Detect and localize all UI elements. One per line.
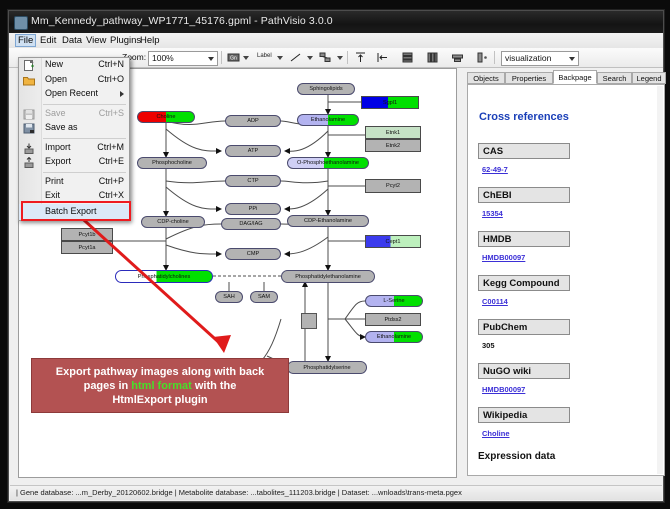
tab-properties[interactable]: Properties [505, 72, 553, 84]
datanode-dropdown-icon[interactable] [243, 56, 249, 60]
link-wikipedia[interactable]: Choline [482, 429, 510, 438]
annotation-highlight: html format [131, 380, 192, 392]
application-window: Mm_Kennedy_pathway_WP1771_45176.gpml - P… [8, 10, 664, 502]
menu-file[interactable]: File [15, 34, 36, 47]
menu-item-label: Exit [45, 190, 60, 200]
link-chebi[interactable]: 15354 [482, 209, 503, 218]
menu-item-label: Save as [45, 122, 78, 132]
metabolite-node[interactable]: Phosphatidylserine [287, 361, 367, 374]
link-kegg-compound[interactable]: C00114 [482, 297, 508, 306]
svg-text:Gn: Gn [230, 56, 237, 62]
expression-data-heading: Expression data [478, 451, 555, 462]
menu-item-accel: Ctrl+N [98, 59, 124, 69]
same-height-button[interactable] [476, 51, 489, 64]
side-panel: Objects Properties Backpage Search Legen… [459, 68, 663, 476]
menu-separator [43, 138, 126, 139]
import-icon [23, 143, 35, 154]
section-hmdb: HMDB [478, 231, 570, 247]
menu-item-label: Save [45, 108, 66, 118]
metabolite-node[interactable]: Sphingolipids [297, 83, 355, 95]
annotation-line-1: Export pathway images along with back [56, 366, 264, 378]
menu-item-accel: Ctrl+P [99, 176, 124, 186]
menu-item-print[interactable]: Print Ctrl+P [19, 175, 129, 190]
menu-item-label: Open [45, 74, 67, 84]
metabolite-node[interactable]: Ethanolamine [297, 114, 359, 126]
section-kegg-compound: Kegg Compound [478, 275, 570, 291]
link-hmdb[interactable]: HMDB00097 [482, 253, 525, 262]
menu-bar: File Edit Data View Plugins Help [9, 33, 663, 49]
interaction-dropdown-icon[interactable] [337, 56, 343, 60]
title-bar: Mm_Kennedy_pathway_WP1771_45176.gpml - P… [9, 11, 663, 34]
visualization-value: visualization [505, 53, 551, 63]
side-panel-scrollbar[interactable] [657, 86, 663, 474]
anchor-box[interactable] [301, 313, 317, 329]
status-bar: | Gene database: ...m_Derby_20120602.bri… [10, 485, 662, 500]
tab-search[interactable]: Search [597, 72, 632, 84]
link-nugo-wiki[interactable]: HMDB00097 [482, 385, 525, 394]
menu-item-label: Print [45, 176, 64, 186]
label-button[interactable]: Label [257, 53, 272, 59]
line-button[interactable] [289, 51, 302, 64]
visualization-combobox[interactable]: visualization [501, 51, 579, 66]
menu-item-label: Export [45, 156, 71, 166]
menu-item-import[interactable]: Import Ctrl+M [19, 141, 129, 156]
menu-item-label: Import [45, 142, 71, 152]
side-panel-tabs: Objects Properties Backpage Search Legen… [467, 70, 663, 84]
menu-item-save: Save Ctrl+S [19, 107, 129, 122]
menu-edit[interactable]: Edit [37, 34, 59, 47]
menu-item-new[interactable]: New Ctrl+N [19, 58, 129, 73]
save-as-icon [23, 123, 35, 134]
align-left-button[interactable] [376, 51, 389, 64]
stack-vertical-button[interactable] [401, 51, 414, 64]
section-wikipedia: Wikipedia [478, 407, 570, 423]
menu-view[interactable]: View [83, 34, 109, 47]
tab-backpage[interactable]: Backpage [553, 70, 597, 84]
label-dropdown-icon[interactable] [277, 56, 283, 60]
metabolite-node[interactable]: Phosphatidylethanolamine [281, 270, 375, 283]
new-document-icon [23, 60, 35, 71]
menu-item-accel: Ctrl+S [99, 108, 124, 118]
menu-item-accel: Ctrl+M [97, 142, 124, 152]
menu-item-label: Open Recent [45, 88, 98, 98]
annotation-line-3: HtmlExport plugin [112, 394, 207, 406]
menu-item-open[interactable]: Open Ctrl+O [19, 73, 129, 88]
stack-horizontal-button[interactable] [426, 51, 439, 64]
menu-separator [43, 104, 126, 105]
value-pubchem: 305 [482, 341, 495, 350]
backpage-content: Cross references CAS 62-49-7 ChEBI 15354… [467, 84, 665, 476]
gene-node[interactable]: Ptdss2 [365, 313, 421, 326]
annotation-callout: Export pathway images along with back pa… [31, 358, 289, 413]
link-cas[interactable]: 62-49-7 [482, 165, 508, 174]
file-menu-popup[interactable]: New Ctrl+N Open Ctrl+O Open Recent Save [18, 57, 130, 221]
batch-export-highlight-box [21, 201, 131, 221]
gene-node[interactable]: Etnk2 [365, 139, 421, 152]
metabolite-node[interactable]: L-Serine [365, 295, 423, 307]
gene-node[interactable]: Cept1 [365, 235, 421, 248]
tab-legend[interactable]: Legend [632, 72, 666, 84]
menu-separator [43, 172, 126, 173]
gene-node[interactable]: Pcyt2 [365, 179, 421, 193]
menu-item-label: New [45, 59, 63, 69]
section-nugo-wiki: NuGO wiki [478, 363, 570, 379]
section-pubchem: PubChem [478, 319, 570, 335]
menu-item-accel: Ctrl+X [99, 190, 124, 200]
gene-node[interactable]: Sgpl1 [361, 96, 419, 109]
save-disk-icon [23, 109, 35, 120]
zoom-combobox[interactable]: 100% [148, 51, 218, 66]
chevron-down-icon [569, 57, 575, 61]
metabolite-node[interactable]: CDP-Ethanolamine [287, 215, 369, 227]
menu-help[interactable]: Help [137, 34, 163, 47]
interaction-button[interactable] [319, 51, 332, 64]
metabolite-node[interactable]: O-Phosphoethanolamine [287, 157, 369, 169]
align-top-button[interactable] [354, 51, 367, 64]
menu-item-accel: Ctrl+E [99, 156, 124, 166]
zoom-value: 100% [152, 53, 174, 63]
section-chebi: ChEBI [478, 187, 570, 203]
same-width-button[interactable] [451, 51, 464, 64]
chevron-down-icon [208, 57, 214, 61]
screenshot-root: Mm_Kennedy_pathway_WP1771_45176.gpml - P… [0, 0, 670, 509]
menu-item-accel: Ctrl+O [98, 74, 124, 84]
menu-item-open-recent[interactable]: Open Recent [19, 87, 129, 102]
open-folder-icon [23, 75, 35, 86]
section-cas: CAS [478, 143, 570, 159]
menu-item-save-as[interactable]: Save as [19, 121, 129, 136]
annotation-line-2-pre: pages in [84, 380, 132, 392]
app-icon [14, 16, 28, 30]
chevron-right-icon [120, 91, 124, 97]
menu-item-export[interactable]: Export Ctrl+E [19, 155, 129, 170]
metabolite-node[interactable]: Ethanolamine [365, 331, 423, 343]
datanode-button[interactable]: Gn [227, 51, 240, 64]
cross-references-heading: Cross references [479, 111, 569, 123]
line-dropdown-icon[interactable] [307, 56, 313, 60]
menu-data[interactable]: Data [59, 34, 85, 47]
window-title: Mm_Kennedy_pathway_WP1771_45176.gpml - P… [31, 15, 333, 27]
export-icon [23, 157, 35, 168]
tab-objects[interactable]: Objects [467, 72, 505, 84]
annotation-line-2-post: with the [192, 380, 237, 392]
gene-node[interactable]: Etnk1 [365, 126, 421, 139]
status-text: | Gene database: ...m_Derby_20120602.bri… [16, 488, 462, 497]
